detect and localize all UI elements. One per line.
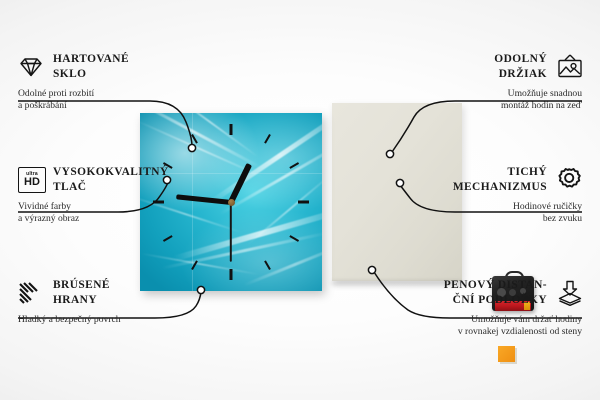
feature-desc: Vividné farby a výrazný obraz bbox=[18, 201, 183, 225]
picture-hanger-icon bbox=[556, 54, 582, 80]
feature-title: ODOLNÝ DRŽIAK bbox=[494, 52, 547, 81]
feature-hardened-glass: HARTOVANÉ SKLO Odolné proti rozbití a po… bbox=[18, 52, 183, 112]
gear-icon bbox=[556, 167, 582, 193]
feature-title: TICHÝ MECHANIZMUS bbox=[453, 165, 547, 194]
feature-title: HARTOVANÉ SKLO bbox=[53, 52, 129, 81]
beveled-edges-icon bbox=[18, 280, 44, 306]
feature-title: VYSOKOKVALITNÝ TLAČ bbox=[53, 165, 169, 194]
ultra-hd-main-label: HD bbox=[24, 177, 40, 188]
feature-high-quality-print: ultra HD VYSOKOKVALITNÝ TLAČ Vividné far… bbox=[18, 165, 183, 225]
diamond-icon bbox=[18, 54, 44, 80]
feature-title: PENOVÝ DISTAN- ČNÍ PODLOŽKY bbox=[444, 278, 547, 307]
ultra-hd-badge-icon: ultra HD bbox=[18, 167, 44, 193]
feature-desc: Umožňuje vám držať hodiny v rovnakej vzd… bbox=[392, 314, 582, 338]
feature-desc: Hodinové ručičky bez zvuku bbox=[412, 201, 582, 225]
feature-foam-spacers: PENOVÝ DISTAN- ČNÍ PODLOŽKY Umožňuje vám… bbox=[392, 278, 582, 338]
product-feature-infographic: HARTOVANÉ SKLO Odolné proti rozbití a po… bbox=[0, 0, 600, 400]
foam-spacer-pad bbox=[498, 346, 515, 362]
feature-silent-mechanism: TICHÝ MECHANIZMUS Hodinové ručičky bez z… bbox=[412, 165, 582, 225]
clock-center-cap bbox=[228, 199, 235, 206]
clock-second-hand bbox=[230, 202, 232, 262]
feature-title: BRÚSENÉ HRANY bbox=[53, 278, 110, 307]
feature-beveled-edges: BRÚSENÉ HRANY Hladký a bezpečný povrch bbox=[18, 278, 193, 326]
feature-desc: Umožňuje snadnou montáž hodin na zeď bbox=[417, 88, 582, 112]
foam-spacer-icon bbox=[556, 280, 582, 306]
feature-desc: Odolné proti rozbití a poškrábání bbox=[18, 88, 183, 112]
feature-desc: Hladký a bezpečný povrch bbox=[18, 314, 193, 326]
feature-durable-hanger: ODOLNÝ DRŽIAK Umožňuje snadnou montáž ho… bbox=[417, 52, 582, 112]
